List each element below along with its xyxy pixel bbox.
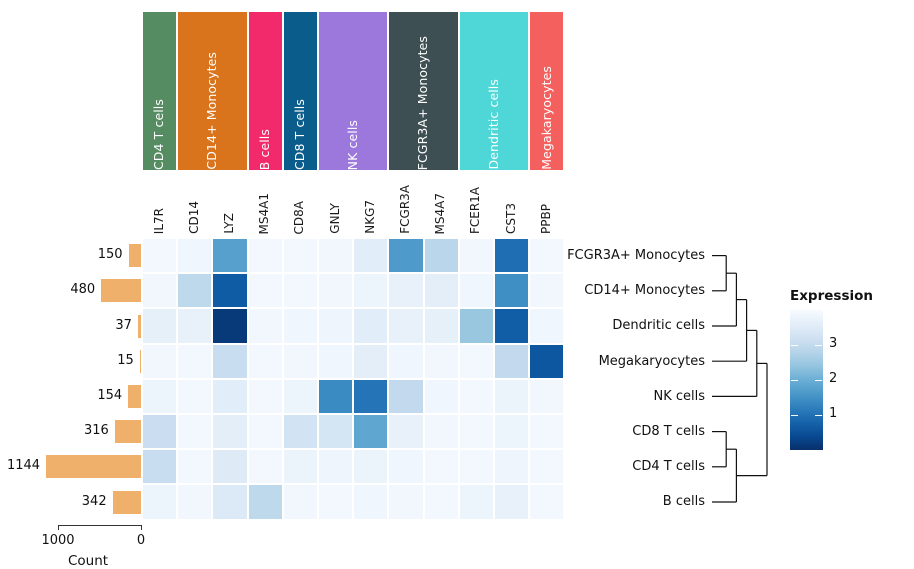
heatmap-cell[interactable] <box>495 415 528 448</box>
heatmap-cell[interactable] <box>530 450 563 483</box>
count-bar-value: 37 <box>0 318 132 333</box>
heatmap-cell[interactable] <box>249 485 282 518</box>
row-label: Megakaryocytes <box>599 354 705 369</box>
heatmap-cell[interactable] <box>143 450 176 483</box>
legend-tick-outer <box>815 345 822 346</box>
heatmap-cell[interactable] <box>249 450 282 483</box>
heatmap-cell[interactable] <box>425 309 458 342</box>
count-bar-value: 480 <box>0 282 95 297</box>
heatmap-cell[interactable] <box>213 380 246 413</box>
heatmap-cell[interactable] <box>354 380 387 413</box>
count-axis-tick <box>141 525 142 530</box>
heatmap-cell[interactable] <box>143 380 176 413</box>
column-group-bar: FCGR3A+ Monocytes <box>389 12 457 170</box>
count-bar[interactable] <box>138 315 141 338</box>
count-bar-value: 150 <box>0 247 123 262</box>
column-group-bar: CD14+ Monocytes <box>178 12 246 170</box>
heatmap-cell[interactable] <box>319 309 352 342</box>
legend-tick-label: 3 <box>829 336 837 351</box>
heatmap-cell[interactable] <box>460 380 493 413</box>
gene-label: LYZ <box>223 213 235 234</box>
heatmap-cell[interactable] <box>354 415 387 448</box>
heatmap-cell[interactable] <box>284 380 317 413</box>
gene-label: NKG7 <box>364 200 376 234</box>
heatmap-cell[interactable] <box>284 239 317 272</box>
gene-label: MS4A7 <box>434 193 446 234</box>
count-bar[interactable] <box>128 385 141 408</box>
heatmap-cell[interactable] <box>319 450 352 483</box>
heatmap-cell[interactable] <box>284 309 317 342</box>
heatmap-cell[interactable] <box>143 309 176 342</box>
heatmap-cell[interactable] <box>495 450 528 483</box>
count-axis-tick-label: 1000 <box>38 533 78 548</box>
count-bar[interactable] <box>101 279 141 302</box>
count-bar-value: 316 <box>0 423 109 438</box>
heatmap-cell[interactable] <box>389 274 422 307</box>
cell-type-dendrogram <box>710 239 778 525</box>
heatmap-cell[interactable] <box>249 380 282 413</box>
heatmap-cell[interactable] <box>143 415 176 448</box>
count-bar[interactable] <box>113 491 141 514</box>
heatmap-cell[interactable] <box>354 274 387 307</box>
legend-tick-label: 1 <box>829 406 837 421</box>
row-label: CD8 T cells <box>632 424 705 439</box>
gene-label: CST3 <box>505 203 517 234</box>
column-group-bar: NK cells <box>319 12 387 170</box>
heatmap-cell[interactable] <box>143 485 176 518</box>
gene-label: CD8A <box>293 201 305 234</box>
count-bar[interactable] <box>46 455 141 478</box>
legend-tick-label: 2 <box>829 371 837 386</box>
row-label: CD14+ Monocytes <box>584 283 705 298</box>
heatmap-cell[interactable] <box>389 415 422 448</box>
count-bar-value: 15 <box>0 353 134 368</box>
column-group-label: Dendritic cells <box>488 71 501 170</box>
heatmap-cell[interactable] <box>284 415 317 448</box>
heatmap-cell[interactable] <box>319 415 352 448</box>
heatmap-cell[interactable] <box>354 450 387 483</box>
heatmap-cell[interactable] <box>178 345 211 378</box>
heatmap-cell[interactable] <box>213 274 246 307</box>
row-label: CD4 T cells <box>632 459 705 474</box>
column-group-label: Megakaryocytes <box>541 58 554 170</box>
legend-tick-inner <box>791 415 798 416</box>
count-bar[interactable] <box>140 350 142 373</box>
heatmap-cell[interactable] <box>460 239 493 272</box>
column-group-label: CD4 T cells <box>153 91 166 170</box>
heatmap-cell[interactable] <box>425 415 458 448</box>
heatmap-cell[interactable] <box>495 239 528 272</box>
gene-label: PPBP <box>540 204 552 234</box>
heatmap-cell[interactable] <box>213 309 246 342</box>
gene-label: FCER1A <box>469 187 481 234</box>
heatmap-cell[interactable] <box>143 345 176 378</box>
gene-label: CD14 <box>188 201 200 234</box>
heatmap-cell[interactable] <box>425 450 458 483</box>
column-group-label: NK cells <box>347 112 360 170</box>
heatmap-cell[interactable] <box>425 274 458 307</box>
count-bar[interactable] <box>115 420 141 443</box>
count-bar-value: 154 <box>0 388 122 403</box>
legend-tick-outer <box>815 415 822 416</box>
heatmap-cell[interactable] <box>319 380 352 413</box>
heatmap-cell[interactable] <box>530 415 563 448</box>
column-group-bar: B cells <box>249 12 282 170</box>
column-group-bar: CD8 T cells <box>284 12 317 170</box>
heatmap-cell[interactable] <box>319 274 352 307</box>
heatmap-cell[interactable] <box>354 239 387 272</box>
dendrogram-svg <box>710 239 778 521</box>
legend-tick-outer <box>815 380 822 381</box>
heatmap-cell[interactable] <box>178 380 211 413</box>
heatmap-cell[interactable] <box>178 450 211 483</box>
heatmap-cell[interactable] <box>178 309 211 342</box>
heatmap-cell[interactable] <box>178 485 211 518</box>
heatmap-cell[interactable] <box>389 239 422 272</box>
heatmap-cell[interactable] <box>460 485 493 518</box>
heatmap-cell[interactable] <box>530 380 563 413</box>
heatmap-cell[interactable] <box>460 274 493 307</box>
count-axis-tick <box>58 525 59 530</box>
heatmap-cell[interactable] <box>495 309 528 342</box>
heatmap-cell[interactable] <box>213 485 246 518</box>
column-group-label: FCGR3A+ Monocytes <box>417 28 430 170</box>
heatmap-cell[interactable] <box>425 380 458 413</box>
heatmap-cell[interactable] <box>284 450 317 483</box>
gene-label: GNLY <box>329 203 341 234</box>
heatmap-cell[interactable] <box>319 485 352 518</box>
heatmap-cell[interactable] <box>495 345 528 378</box>
heatmap-cell[interactable] <box>389 345 422 378</box>
heatmap-cell[interactable] <box>530 485 563 518</box>
heatmap-cell[interactable] <box>319 239 352 272</box>
row-label: NK cells <box>653 389 705 404</box>
heatmap-cell[interactable] <box>530 309 563 342</box>
heatmap-cell[interactable] <box>249 274 282 307</box>
heatmap-cell[interactable] <box>284 485 317 518</box>
heatmap-cell[interactable] <box>284 274 317 307</box>
heatmap-cell[interactable] <box>389 380 422 413</box>
legend-tick-inner <box>791 380 798 381</box>
column-group-label: CD8 T cells <box>294 91 307 170</box>
heatmap-cell[interactable] <box>249 309 282 342</box>
count-axis-line <box>58 525 141 526</box>
column-group-bar: CD4 T cells <box>143 12 176 170</box>
heatmap-cell[interactable] <box>354 309 387 342</box>
gene-label: FCGR3A <box>399 185 411 234</box>
row-label: Dendritic cells <box>612 318 705 333</box>
heatmap-cell[interactable] <box>178 239 211 272</box>
heatmap-cell[interactable] <box>354 485 387 518</box>
heatmap-cell[interactable] <box>249 345 282 378</box>
column-group-bar: Megakaryocytes <box>530 12 563 170</box>
heatmap-cell[interactable] <box>143 239 176 272</box>
heatmap-cell[interactable] <box>213 415 246 448</box>
heatmap-cell[interactable] <box>425 485 458 518</box>
heatmap-cell[interactable] <box>213 450 246 483</box>
gene-label: IL7R <box>153 208 165 234</box>
heatmap-cell[interactable] <box>460 309 493 342</box>
heatmap-cell[interactable] <box>530 274 563 307</box>
heatmap-cell[interactable] <box>460 450 493 483</box>
heatmap-cell[interactable] <box>389 450 422 483</box>
heatmap-cell[interactable] <box>495 485 528 518</box>
heatmap-cell[interactable] <box>249 415 282 448</box>
heatmap-cell[interactable] <box>284 345 317 378</box>
heatmap-cell[interactable] <box>389 309 422 342</box>
heatmap-cell[interactable] <box>425 345 458 378</box>
heatmap-cell[interactable] <box>178 274 211 307</box>
legend-title: Expression <box>790 288 873 304</box>
heatmap-cell[interactable] <box>249 239 282 272</box>
count-bar-value: 1144 <box>0 458 40 473</box>
heatmap-cell[interactable] <box>530 239 563 272</box>
legend-tick-inner <box>791 345 798 346</box>
heatmap-cell[interactable] <box>178 415 211 448</box>
heatmap-cell[interactable] <box>354 345 387 378</box>
count-bar-value: 342 <box>0 494 107 509</box>
heatmap-cell[interactable] <box>495 380 528 413</box>
heatmap-cell[interactable] <box>495 274 528 307</box>
legend-gradient <box>790 310 823 450</box>
column-group-label: B cells <box>259 121 272 170</box>
count-bar[interactable] <box>129 244 141 267</box>
heatmap-cell[interactable] <box>460 415 493 448</box>
heatmap-cell[interactable] <box>530 345 563 378</box>
heatmap-cell[interactable] <box>425 239 458 272</box>
gene-label: MS4A1 <box>258 193 270 234</box>
heatmap-cell[interactable] <box>213 239 246 272</box>
heatmap-cell[interactable] <box>143 274 176 307</box>
heatmap-cell[interactable] <box>460 345 493 378</box>
heatmap-cell[interactable] <box>319 345 352 378</box>
column-group-bar: Dendritic cells <box>460 12 528 170</box>
row-label: B cells <box>663 494 705 509</box>
heatmap-cell[interactable] <box>389 485 422 518</box>
row-label: FCGR3A+ Monocytes <box>567 248 705 263</box>
count-axis-title: Count <box>68 553 108 569</box>
count-axis-tick-label: 0 <box>121 533 161 548</box>
heatmap-cell[interactable] <box>213 345 246 378</box>
column-group-label: CD14+ Monocytes <box>206 44 219 170</box>
